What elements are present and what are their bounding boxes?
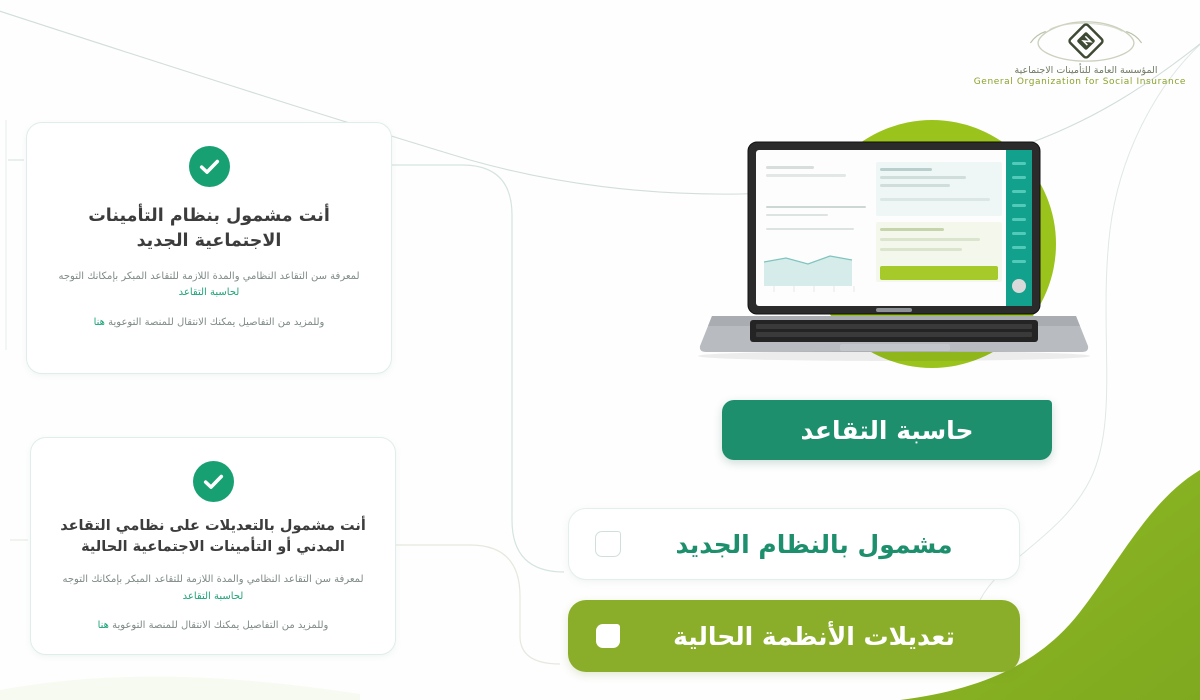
pill-covered-new-system[interactable]: مشمول بالنظام الجديد <box>568 508 1020 580</box>
card-note-text: لمعرفة سن التقاعد النظامي والمدة اللازمة… <box>58 271 359 282</box>
pill-label: حاسبة التقاعد <box>800 416 973 445</box>
pill-label: تعديلات الأنظمة الحالية <box>620 622 1020 651</box>
info-card-current-systems: أنت مشمول بالتعديلات على نظامي التقاعد ا… <box>30 437 396 655</box>
corner-accent-square <box>1036 391 1066 427</box>
card-note-platform: وللمزيد من التفاصيل يمكنك الانتقال للمنص… <box>45 315 373 332</box>
square-outline-icon <box>595 531 621 557</box>
card-note-text: لمعرفة سن التقاعد النظامي والمدة اللازمة… <box>62 574 363 585</box>
card-note-platform: وللمزيد من التفاصيل يمكنك الانتقال للمنص… <box>49 618 377 635</box>
check-circle-icon <box>193 461 234 502</box>
laptop-icon <box>690 110 1100 385</box>
card-note-text: وللمزيد من التفاصيل يمكنك الانتقال للمنص… <box>105 317 324 328</box>
laptop-dashboard-illustration <box>690 110 1100 385</box>
retirement-calculator-link[interactable]: لحاسبة التقاعد <box>183 591 244 602</box>
infographic-canvas: المؤسسة العامة للتأمينات الاجتماعية Gene… <box>0 0 1200 700</box>
card-title: أنت مشمول بالتعديلات على نظامي التقاعد ا… <box>49 516 377 558</box>
card-note-calculator: لمعرفة سن التقاعد النظامي والمدة اللازمة… <box>49 572 377 605</box>
pill-label: مشمول بالنظام الجديد <box>621 530 1019 559</box>
card-title: أنت مشمول بنظام التأمينات الاجتماعية الج… <box>45 204 373 255</box>
pill-current-system-amendments[interactable]: تعديلات الأنظمة الحالية <box>568 600 1020 672</box>
awareness-platform-link[interactable]: هنا <box>98 620 109 631</box>
pill-retirement-calculator[interactable]: حاسبة التقاعد <box>722 400 1052 460</box>
check-circle-icon <box>189 146 230 187</box>
square-filled-icon <box>596 624 620 648</box>
retirement-calculator-link[interactable]: لحاسبة التقاعد <box>179 287 240 298</box>
awareness-platform-link[interactable]: هنا <box>94 317 105 328</box>
logo-name-english: General Organization for Social Insuranc… <box>986 77 1186 89</box>
gosi-logo-icon <box>986 18 1186 64</box>
logo-name-arabic: المؤسسة العامة للتأمينات الاجتماعية <box>986 65 1186 77</box>
info-card-new-system: أنت مشمول بنظام التأمينات الاجتماعية الج… <box>26 122 392 374</box>
card-note-text: وللمزيد من التفاصيل يمكنك الانتقال للمنص… <box>109 620 328 631</box>
gosi-logo: المؤسسة العامة للتأمينات الاجتماعية Gene… <box>986 18 1186 89</box>
card-note-calculator: لمعرفة سن التقاعد النظامي والمدة اللازمة… <box>45 269 373 302</box>
